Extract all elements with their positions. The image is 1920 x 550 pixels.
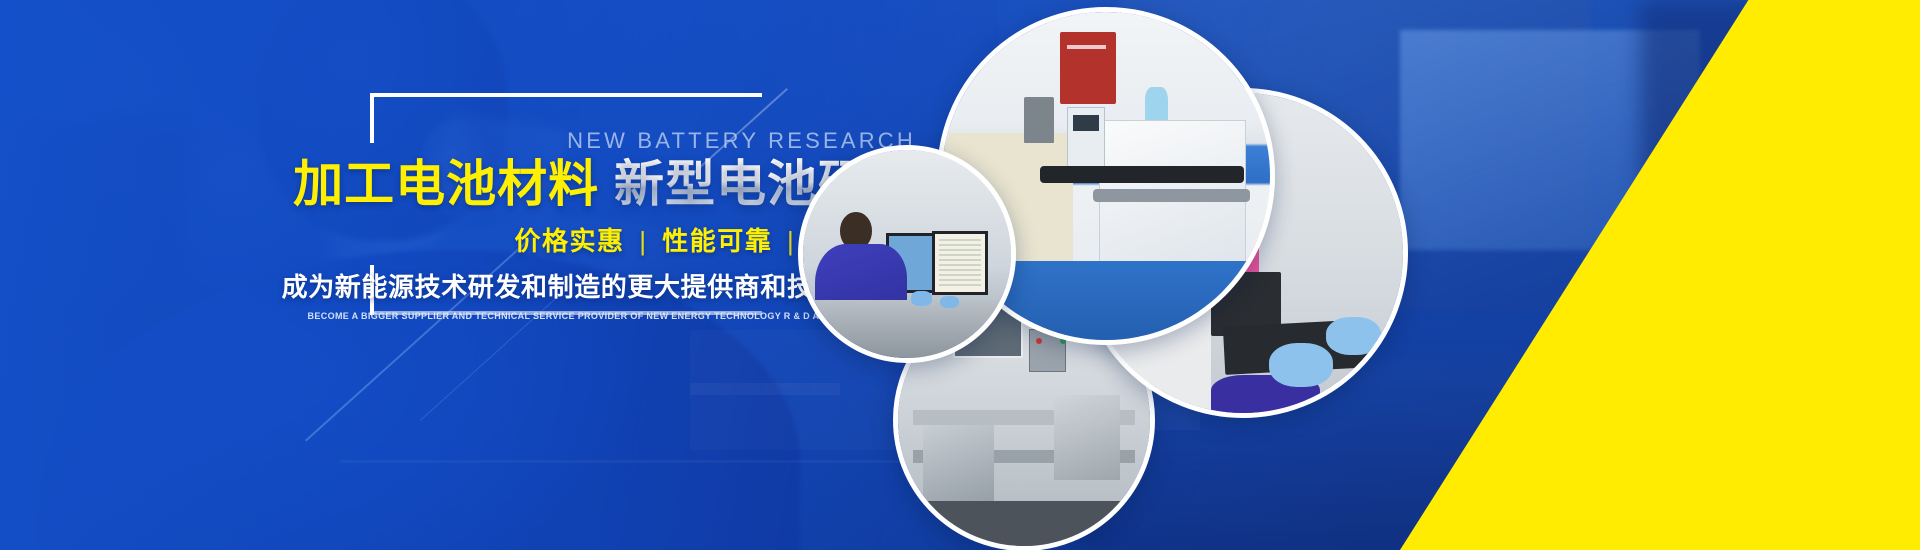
tagline-item-0: 价格实惠 [514,226,624,256]
decor-soft-tab [690,383,840,395]
operator-workstation-photo: 工程师在电脑工作站监控设备 [798,145,1016,363]
headline-highlight: 加工电池材料 [293,156,599,212]
eyebrow-text: NEW BATTERY RESEARCH [280,130,920,152]
tagline-item-1: 性能可靠 [662,226,772,256]
operator-workstation-photo-image [803,150,1011,358]
hero-banner: NEW BATTERY RESEARCH 加工电池材料 新型电池研究 价格实惠 … [0,0,1920,550]
decor-soft-rule [340,460,940,463]
tagline-separator-0: | [633,226,653,256]
